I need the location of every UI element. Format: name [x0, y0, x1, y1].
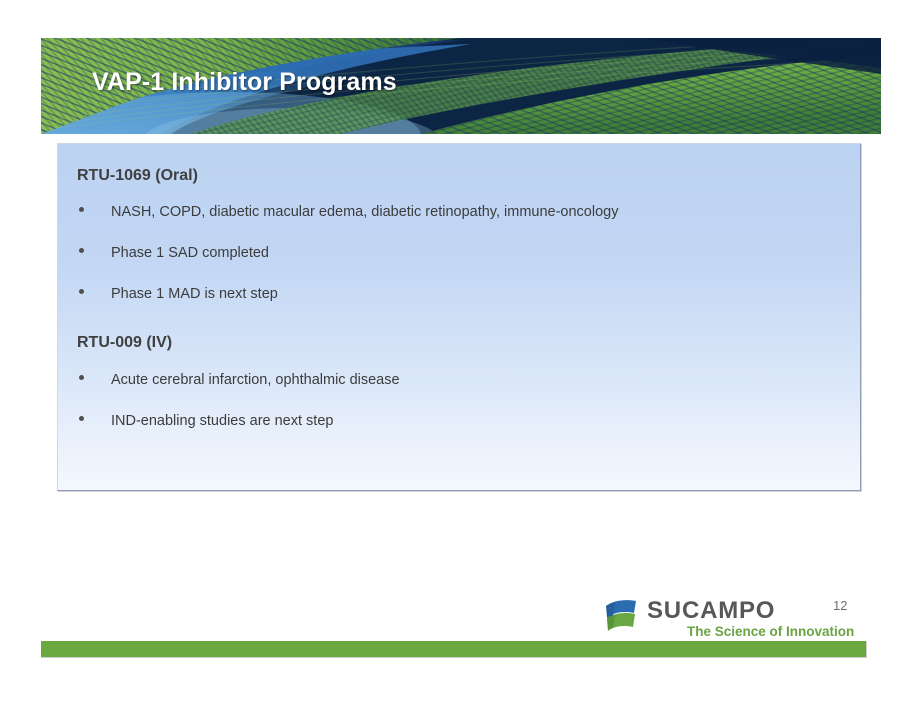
list-item: Acute cerebral infarction, ophthalmic di…: [79, 372, 400, 388]
slide-title: VAP-1 Inhibitor Programs: [92, 68, 397, 97]
bullet-dot-icon: [79, 375, 84, 380]
list-item-label: IND-enabling studies are next step: [111, 413, 333, 429]
list-item: Phase 1 SAD completed: [79, 245, 269, 261]
list-item: Phase 1 MAD is next step: [79, 286, 278, 302]
list-item-label: Acute cerebral infarction, ophthalmic di…: [111, 372, 400, 388]
bullet-dot-icon: [79, 248, 84, 253]
group-heading-rtu-1069: RTU-1069 (Oral): [77, 167, 198, 185]
header-banner: VAP-1 Inhibitor Programs: [41, 38, 881, 134]
company-logo: SUCAMPO The Science of Innovation: [601, 594, 866, 640]
list-item: NASH, COPD, diabetic macular edema, diab…: [79, 204, 618, 220]
group-heading-rtu-009: RTU-009 (IV): [77, 334, 172, 352]
logo-wordmark: SUCAMPO: [647, 597, 775, 625]
page-number: 12: [833, 598, 847, 613]
bullet-dot-icon: [79, 207, 84, 212]
list-item-label: Phase 1 SAD completed: [111, 245, 269, 261]
footer-accent-bar: [41, 641, 867, 658]
list-item-label: NASH, COPD, diabetic macular edema, diab…: [111, 204, 618, 220]
slide-canvas: VAP-1 Inhibitor Programs RTU-1069 (Oral)…: [0, 0, 911, 704]
content-panel: RTU-1069 (Oral) NASH, COPD, diabetic mac…: [57, 143, 861, 491]
logo-tagline: The Science of Innovation: [687, 624, 854, 639]
sucampo-ribbon-logo-icon: [601, 596, 641, 638]
list-item: IND-enabling studies are next step: [79, 413, 333, 429]
list-item-label: Phase 1 MAD is next step: [111, 286, 278, 302]
bullet-dot-icon: [79, 416, 84, 421]
bullet-dot-icon: [79, 289, 84, 294]
